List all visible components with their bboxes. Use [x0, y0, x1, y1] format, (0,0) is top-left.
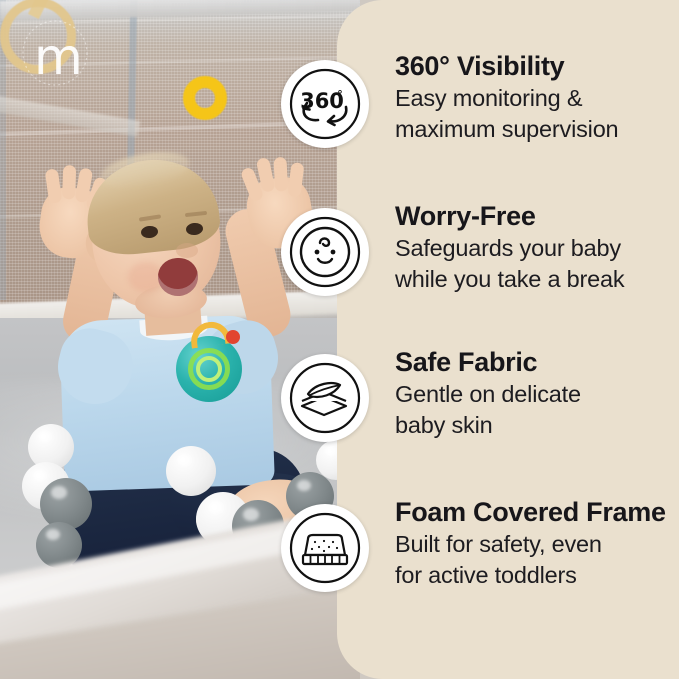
- feature-body-line1: Built for safety, even: [395, 529, 667, 560]
- brand-logo: m: [4, 4, 100, 100]
- product-feature-graphic: m 360 ° 360° Visibility Easy monitoring …: [0, 0, 679, 679]
- feature-title: 360° Visibility: [395, 52, 667, 81]
- toy-ball-pattern-inner: [196, 356, 222, 382]
- rotation-360-icon: 360 °: [281, 60, 369, 148]
- feature-text: Foam Covered Frame Built for safety, eve…: [395, 498, 667, 590]
- feature-item-foam-covered-frame: Foam Covered Frame Built for safety, eve…: [337, 498, 679, 590]
- baby-nose: [176, 243, 198, 258]
- pit-ball: [166, 446, 216, 496]
- feature-body-line1: Easy monitoring &: [395, 83, 667, 114]
- feature-body-line2: maximum supervision: [395, 114, 667, 145]
- feature-text: Safe Fabric Gentle on delicate baby skin: [395, 348, 667, 440]
- feature-text: Worry-Free Safeguards your baby while yo…: [395, 202, 667, 294]
- feature-body-line2: for active toddlers: [395, 560, 667, 591]
- feature-body-line2: while you take a break: [395, 264, 667, 295]
- feature-item-safe-fabric: Safe Fabric Gentle on delicate baby skin: [337, 348, 679, 440]
- feature-body-line1: Gentle on delicate: [395, 379, 667, 410]
- feature-title: Worry-Free: [395, 202, 667, 231]
- features-panel: 360 ° 360° Visibility Easy monitoring & …: [337, 0, 679, 679]
- svg-text:°: °: [337, 88, 343, 101]
- baby-face-icon: [281, 208, 369, 296]
- feature-body-line1: Safeguards your baby: [395, 233, 667, 264]
- feather-on-fabric-icon: [281, 354, 369, 442]
- feature-title: Foam Covered Frame: [395, 498, 667, 527]
- toy-bead: [226, 330, 240, 344]
- feature-body-line2: baby skin: [395, 410, 667, 441]
- feature-title: Safe Fabric: [395, 348, 667, 377]
- brand-logo-letter: m: [34, 32, 83, 82]
- feature-text: 360° Visibility Easy monitoring & maximu…: [395, 52, 667, 144]
- foam-mattress-icon: [281, 504, 369, 592]
- feature-item-worry-free: Worry-Free Safeguards your baby while yo…: [337, 202, 679, 294]
- feature-item-360-visibility: 360 ° 360° Visibility Easy monitoring & …: [337, 52, 679, 144]
